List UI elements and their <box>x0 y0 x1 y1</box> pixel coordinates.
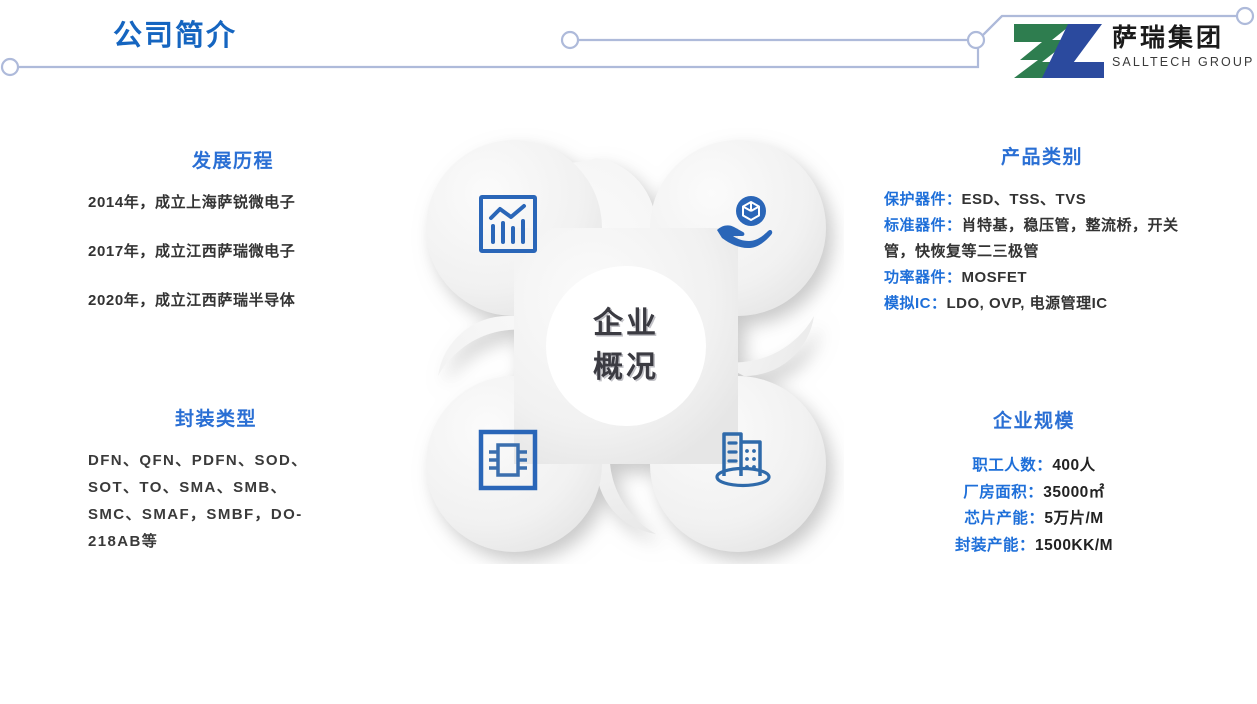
block-history-title: 发展历程 <box>88 146 378 173</box>
product-label: 功率器件： <box>884 269 962 286</box>
scale-label: 职工人数： <box>972 457 1052 474</box>
product-line: 模拟IC：LDO, OVP, 电源管理IC <box>884 291 1200 317</box>
deco-node-mid <box>562 32 578 48</box>
scale-label: 芯片产能： <box>964 510 1044 527</box>
hand-package-icon <box>712 192 776 256</box>
scale-value: 5万片/M <box>1044 510 1103 527</box>
block-package-title: 封装类型 <box>88 404 344 431</box>
logo-mark-icon <box>1012 22 1108 80</box>
product-value: ESD、TSS、TVS <box>962 191 1087 208</box>
product-label: 模拟IC： <box>884 295 947 312</box>
product-value: MOSFET <box>962 269 1028 286</box>
product-line: 标准器件：肖特基，稳压管，整流桥，开关管，快恢复等二三极管 <box>884 213 1200 265</box>
scale-label: 厂房面积： <box>963 484 1043 501</box>
center-clover-graphic: 企业 概况 <box>408 128 844 564</box>
logo-name-en: SALLTECH GROUP <box>1112 54 1252 70</box>
product-line: 功率器件：MOSFET <box>884 265 1200 291</box>
product-lines: 保护器件：ESD、TSS、TVS 标准器件：肖特基，稳压管，整流桥，开关管，快恢… <box>884 187 1200 317</box>
clover-shape <box>408 128 844 564</box>
block-package-types: 封装类型 DFN、QFN、PDFN、SOD、SOT、TO、SMA、SMB、SMC… <box>88 404 344 555</box>
logo-name-cn: 萨瑞集团 <box>1112 22 1252 54</box>
slide-canvas: 公司简介 萨瑞集团 SALLTECH GROUP 发展历程 2014年，成立上海… <box>0 0 1257 704</box>
chart-bars-icon <box>476 192 540 256</box>
chip-ic-icon <box>476 428 540 492</box>
buildings-icon <box>712 428 776 492</box>
block-scale-title: 企业规模 <box>884 406 1184 433</box>
scale-row: 芯片产能：5万片/M <box>884 506 1184 533</box>
block-products-title: 产品类别 <box>884 142 1200 169</box>
list-item: 2017年，成立江西萨瑞微电子 <box>88 240 378 261</box>
list-item: 2020年，成立江西萨瑞半导体 <box>88 289 378 310</box>
center-circle <box>546 266 706 426</box>
scale-value: 1500KK/M <box>1035 537 1113 554</box>
deco-node-left <box>2 59 18 75</box>
product-line: 保护器件：ESD、TSS、TVS <box>884 187 1200 213</box>
scale-value: 35000㎡ <box>1043 484 1105 501</box>
history-list: 2014年，成立上海萨锐微电子 2017年，成立江西萨瑞微电子 2020年，成立… <box>88 191 378 310</box>
block-product-categories: 产品类别 保护器件：ESD、TSS、TVS 标准器件：肖特基，稳压管，整流桥，开… <box>884 142 1200 317</box>
scale-row: 封装产能：1500KK/M <box>884 533 1184 560</box>
package-types-body: DFN、QFN、PDFN、SOD、SOT、TO、SMA、SMB、SMC、SMAF… <box>88 447 338 555</box>
block-enterprise-scale: 企业规模 职工人数：400人 厂房面积：35000㎡ 芯片产能：5万片/M 封装… <box>884 406 1184 559</box>
product-label: 保护器件： <box>884 191 962 208</box>
scale-row: 职工人数：400人 <box>884 453 1184 480</box>
block-history: 发展历程 2014年，成立上海萨锐微电子 2017年，成立江西萨瑞微电子 202… <box>88 146 378 338</box>
product-value: LDO, OVP, 电源管理IC <box>947 295 1108 312</box>
product-label: 标准器件： <box>884 217 962 234</box>
scale-label: 封装产能： <box>955 537 1035 554</box>
page-title: 公司简介 <box>113 12 237 54</box>
list-item: 2014年，成立上海萨锐微电子 <box>88 191 378 212</box>
scale-value: 400人 <box>1052 457 1095 474</box>
scale-row: 厂房面积：35000㎡ <box>884 480 1184 507</box>
scale-rows: 职工人数：400人 厂房面积：35000㎡ 芯片产能：5万片/M 封装产能：15… <box>884 453 1184 559</box>
company-logo: 萨瑞集团 SALLTECH GROUP <box>1012 22 1252 82</box>
deco-node-junction <box>968 32 984 48</box>
